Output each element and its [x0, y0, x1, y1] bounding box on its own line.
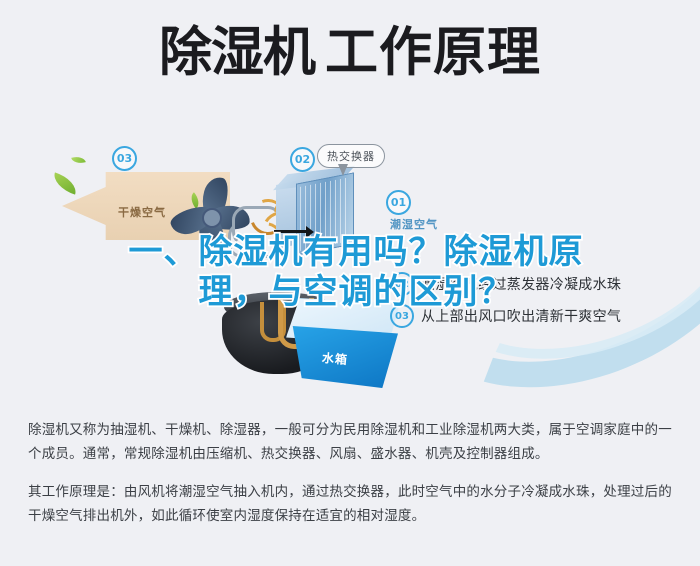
- page-title: 除湿机工作原理: [0, 26, 700, 79]
- step-badge-01: 01: [386, 190, 411, 215]
- article-body: 除湿机又称为抽湿机、干燥机、除湿器，一般可分为民用除湿机和工业除湿机两大类，属于…: [28, 418, 676, 542]
- overlay-headline: 一、除湿机有用吗？除湿机原理，与空调的区别？: [96, 232, 616, 312]
- page-canvas: 除湿机工作原理 干燥空气 03: [0, 0, 700, 566]
- article-paragraph-1: 除湿机又称为抽湿机、干燥机、除湿器，一般可分为民用除湿机和工业除湿机两大类，属于…: [28, 418, 676, 466]
- hero-illustration: 除湿机工作原理 干燥空气 03: [0, 0, 700, 400]
- humid-air-label: 潮湿空气: [390, 216, 438, 232]
- step-badge-03: 03: [112, 146, 137, 171]
- fan-hub: [202, 208, 222, 228]
- page-title-part-one: 除湿机: [159, 22, 315, 83]
- leaf-icon: [71, 154, 86, 165]
- callout-tail: [338, 164, 348, 176]
- leaf-icon: [50, 172, 79, 194]
- page-title-part-two: 工作原理: [325, 22, 541, 83]
- heat-exchanger-callout: 热交换器: [317, 144, 385, 168]
- dry-air-label: 干燥空气: [118, 204, 166, 220]
- water-tank-label: 水箱: [321, 349, 348, 368]
- article-paragraph-2: 其工作原理是：由风机将潮湿空气抽入机内，通过热交换器，此时空气中的水分子冷凝成水…: [28, 480, 676, 528]
- step-badge-02: 02: [290, 147, 315, 172]
